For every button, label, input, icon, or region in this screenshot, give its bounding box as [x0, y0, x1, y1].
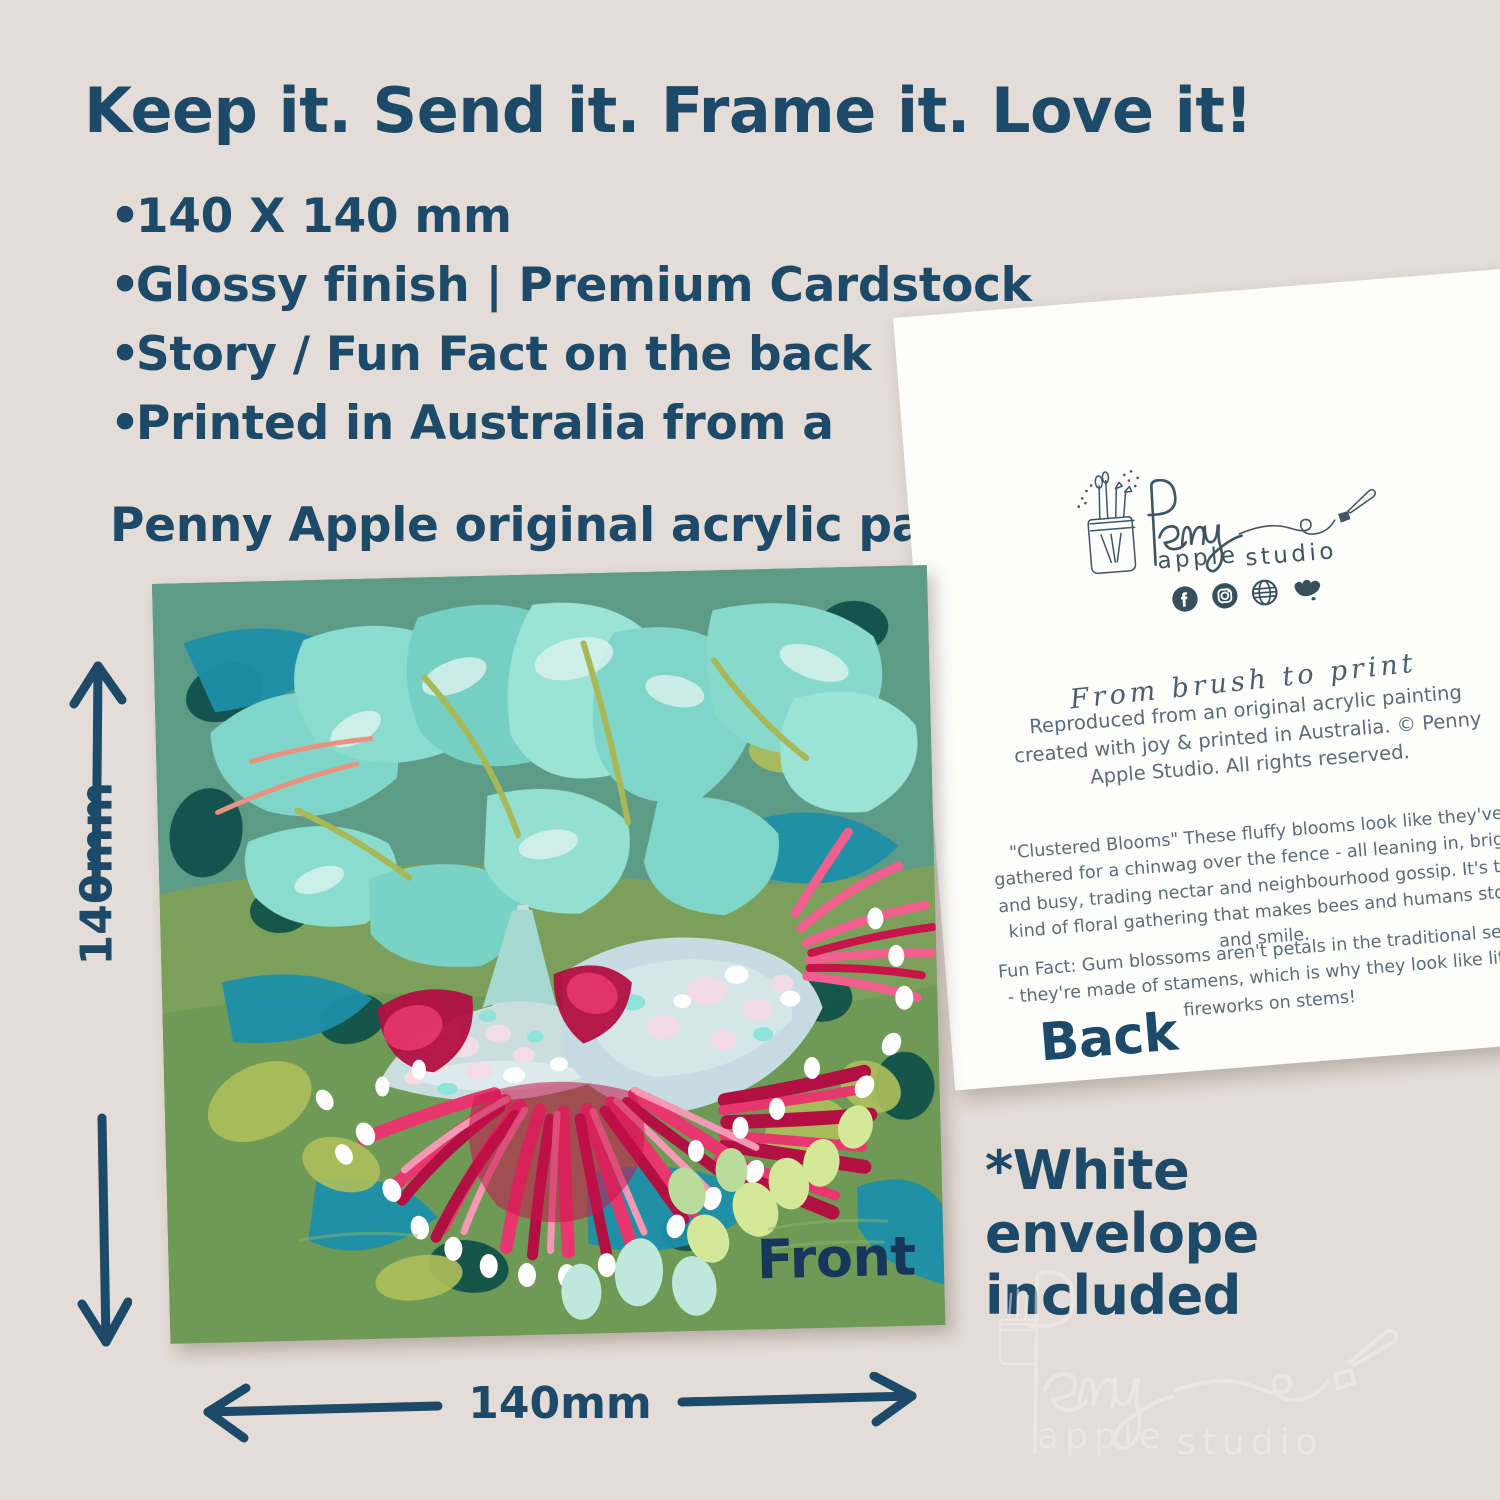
- social-icons: [1170, 575, 1322, 614]
- bullet-dot: [110, 182, 136, 251]
- feature-text: Printed in Australia from a: [136, 396, 834, 451]
- front-card: Front: [152, 565, 945, 1344]
- feature-text: 140 X 140 mm: [136, 189, 512, 244]
- svg-text:studio: studio: [1177, 1422, 1324, 1463]
- bullet-dot: [110, 251, 136, 320]
- facebook-icon[interactable]: [1170, 584, 1199, 613]
- globe-icon[interactable]: [1250, 578, 1279, 607]
- envelope-note: *White envelope included: [985, 1140, 1455, 1328]
- logo-artwork: apple studio: [1065, 433, 1404, 589]
- penny-apple-logo: apple studio: [1065, 433, 1404, 589]
- bullet-dot: [110, 320, 136, 389]
- svg-text:apple: apple: [1037, 1416, 1167, 1457]
- page-title: Keep it. Send it. Frame it. Love it!: [84, 78, 1424, 143]
- front-label: Front: [756, 1225, 916, 1292]
- instagram-icon[interactable]: [1210, 581, 1239, 610]
- list-item: 140 X 140 mm: [110, 182, 1270, 251]
- height-dimension-label: 140mm: [72, 896, 123, 966]
- feature-text: Story / Fun Fact on the back: [136, 327, 871, 382]
- height-dimension-arrow: [62, 648, 132, 1360]
- width-dimension-label: 140mm: [190, 1378, 930, 1429]
- product-listing-graphic: Keep it. Send it. Frame it. Love it! 140…: [0, 0, 1500, 1500]
- feature-text: Glossy finish | Premium Cardstock: [136, 258, 1032, 313]
- svg-text:studio: studio: [1244, 538, 1337, 571]
- svg-text:apple: apple: [1156, 542, 1239, 574]
- back-card: apple studio: [893, 268, 1500, 1090]
- bullet-dot: [110, 389, 136, 458]
- australia-icon[interactable]: [1290, 575, 1322, 604]
- back-label: Back: [1037, 1003, 1180, 1074]
